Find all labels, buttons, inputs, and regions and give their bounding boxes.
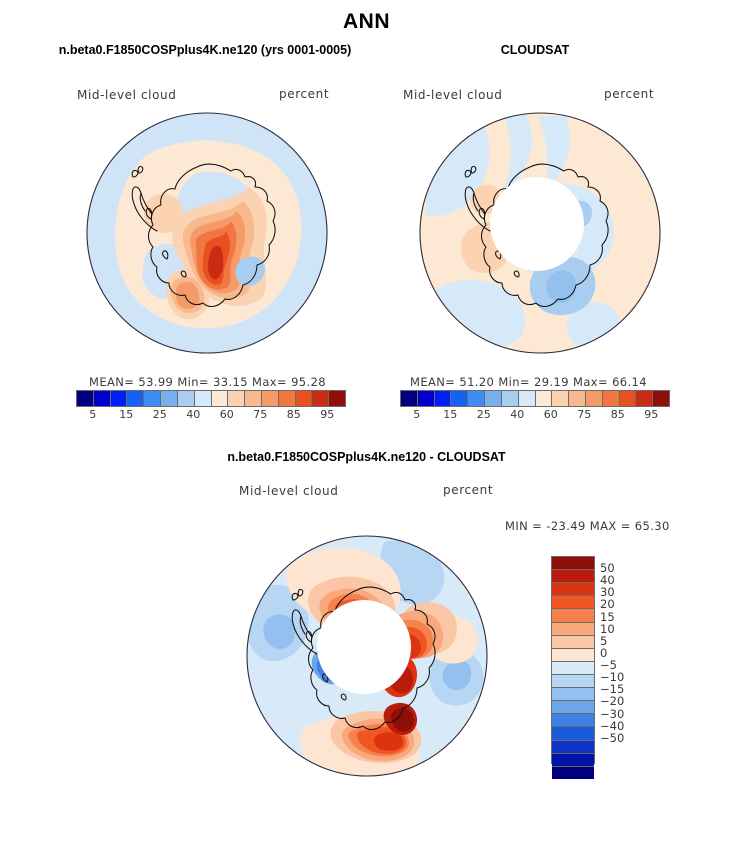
colorbar-swatch <box>552 569 594 582</box>
colorbar-swatch <box>552 557 594 569</box>
colorbar-tick-label: 5 <box>89 408 96 421</box>
colorbar-swatch <box>211 391 228 406</box>
colorbar-swatch <box>619 391 636 406</box>
colorbar-swatch <box>126 391 143 406</box>
panel-title-difference: n.beta0.F1850COSPplus4K.ne120 - CLOUDSAT <box>0 450 733 464</box>
colorbar-swatch <box>194 391 211 406</box>
colorbar-difference <box>551 556 595 764</box>
colorbar-swatch <box>227 391 244 406</box>
map-units-label-difference: percent <box>443 483 493 497</box>
colorbar-tick-label: 15 <box>119 408 133 421</box>
map-units-label-obs: percent <box>604 87 654 101</box>
colorbar-swatch <box>602 391 619 406</box>
colorbar-swatch <box>328 391 345 406</box>
colorbar-tick-label: 25 <box>477 408 491 421</box>
colorbar-tick-label: 40 <box>186 408 200 421</box>
colorbar-swatch <box>535 391 552 406</box>
colorbar-tick-label: 95 <box>320 408 334 421</box>
colorbar-swatch <box>160 391 177 406</box>
colorbar-tick-label: 40 <box>510 408 524 421</box>
map-units-label-model: percent <box>279 87 329 101</box>
colorbar-swatch <box>177 391 194 406</box>
colorbar-swatch <box>552 687 594 700</box>
map-variable-label-model: Mid-level cloud <box>77 88 176 102</box>
colorbar-swatch <box>552 726 594 739</box>
stats-difference: MIN = -23.49 MAX = 65.30 <box>505 519 670 533</box>
colorbar-swatch <box>467 391 484 406</box>
colorbar-swatch <box>93 391 110 406</box>
colorbar-swatch <box>552 622 594 635</box>
colorbar-tick-label: 25 <box>153 408 167 421</box>
colorbar-swatch <box>552 608 594 621</box>
colorbar-obs <box>400 390 670 407</box>
colorbar-swatch <box>501 391 518 406</box>
figure-main-title: ANN <box>0 10 733 34</box>
colorbar-tick-label: 75 <box>577 408 591 421</box>
figure-canvas: ANN n.beta0.F1850COSPplus4K.ne120 (yrs 0… <box>0 0 733 853</box>
colorbar-swatch <box>552 661 594 674</box>
colorbar-swatch <box>552 740 594 753</box>
colorbar-swatch <box>568 391 585 406</box>
colorbar-swatch <box>244 391 261 406</box>
colorbar-tick-label: 75 <box>253 408 267 421</box>
colorbar-tick-label: 15 <box>443 408 457 421</box>
colorbar-swatch <box>551 391 568 406</box>
colorbar-swatch <box>518 391 535 406</box>
polar-data-gap-difference <box>317 600 411 694</box>
colorbar-tick-label: 60 <box>544 408 558 421</box>
map-variable-label-obs: Mid-level cloud <box>403 88 502 102</box>
colorbar-swatch <box>552 648 594 661</box>
colorbar-tick-label: 85 <box>611 408 625 421</box>
colorbar-swatch <box>552 713 594 726</box>
colorbar-tick-label: 5 <box>413 408 420 421</box>
colorbar-swatch <box>110 391 127 406</box>
stats-model: MEAN= 53.99 Min= 33.15 Max= 95.28 <box>89 375 326 389</box>
colorbar-tick-label: 60 <box>220 408 234 421</box>
colorbar-swatch <box>311 391 328 406</box>
colorbar-swatch <box>484 391 501 406</box>
panel-title-model: n.beta0.F1850COSPplus4K.ne120 (yrs 0001-… <box>0 43 410 57</box>
map-variable-label-difference: Mid-level cloud <box>239 484 338 498</box>
colorbar-swatch <box>450 391 467 406</box>
colorbar-swatch <box>77 391 93 406</box>
colorbar-swatch <box>417 391 434 406</box>
polar-map-difference <box>245 534 489 778</box>
colorbar-tick-label: 95 <box>644 408 658 421</box>
colorbar-swatch <box>552 766 594 779</box>
colorbar-swatch <box>278 391 295 406</box>
colorbar-swatch <box>552 635 594 648</box>
colorbar-ticks-obs: 515254060758595 <box>400 408 668 422</box>
colorbar-swatch <box>261 391 278 406</box>
stats-obs: MEAN= 51.20 Min= 29.19 Max= 66.14 <box>410 375 647 389</box>
colorbar-swatch <box>552 595 594 608</box>
colorbar-model <box>76 390 346 407</box>
colorbar-swatch <box>552 700 594 713</box>
colorbar-swatch <box>552 674 594 687</box>
polar-map-model <box>85 111 329 355</box>
colorbar-swatch <box>552 582 594 595</box>
colorbar-swatch <box>635 391 652 406</box>
colorbar-tick-label: −50 <box>600 731 624 745</box>
colorbar-swatch <box>143 391 160 406</box>
polar-data-gap-obs <box>490 177 584 271</box>
polar-map-obs <box>418 111 662 355</box>
colorbar-swatch <box>401 391 417 406</box>
colorbar-swatch <box>434 391 451 406</box>
colorbar-tick-label: 85 <box>287 408 301 421</box>
colorbar-swatch <box>585 391 602 406</box>
colorbar-swatch <box>652 391 669 406</box>
colorbar-swatch <box>552 753 594 766</box>
colorbar-swatch <box>295 391 312 406</box>
colorbar-ticks-model: 515254060758595 <box>76 408 344 422</box>
panel-title-obs: CLOUDSAT <box>400 43 670 57</box>
